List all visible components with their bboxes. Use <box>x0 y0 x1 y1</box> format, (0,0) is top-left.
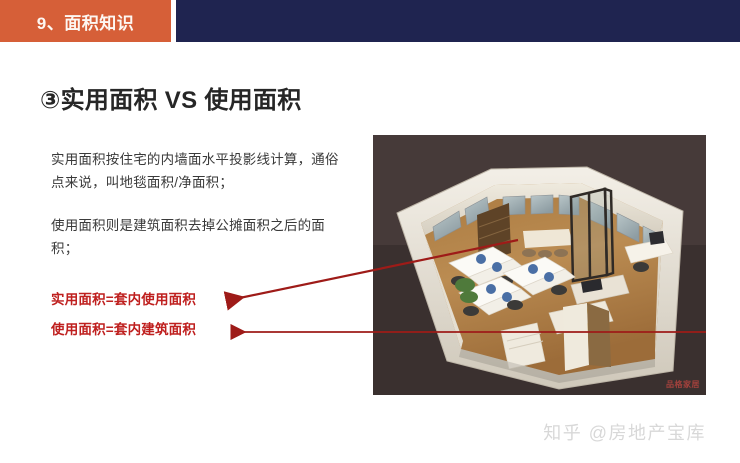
header-band: 9、面积知识 <box>0 0 740 42</box>
zhihu-watermark: 知乎 @房地产宝库 <box>543 419 706 445</box>
highlight-line-1: 实用面积=套内使用面积 <box>51 289 281 310</box>
paragraph-2: 使用面积则是建筑面积去掉公摊面积之后的面积； <box>51 214 351 260</box>
header-navy-block <box>176 0 740 42</box>
highlight-line-2: 使用面积=套内建筑面积 <box>51 319 281 340</box>
floorplan-photo: 品格家居 <box>373 135 706 395</box>
floorplan-illustration <box>373 135 706 395</box>
section-tab-label: 9、面积知识 <box>0 0 171 42</box>
photo-watermark: 品格家居 <box>666 379 700 390</box>
page-title: ③实用面积 VS 使用面积 <box>40 80 302 115</box>
slide-root: 9、面积知识 ③实用面积 VS 使用面积 实用面积按住宅的内墙面水平投影线计算，… <box>0 0 740 463</box>
paragraph-1: 实用面积按住宅的内墙面水平投影线计算，通俗点来说，叫地毯面积/净面积； <box>51 148 351 194</box>
highlight-group: 实用面积=套内使用面积 使用面积=套内建筑面积 <box>51 289 281 340</box>
body-copy: 实用面积按住宅的内墙面水平投影线计算，通俗点来说，叫地毯面积/净面积； 使用面积… <box>51 148 351 260</box>
